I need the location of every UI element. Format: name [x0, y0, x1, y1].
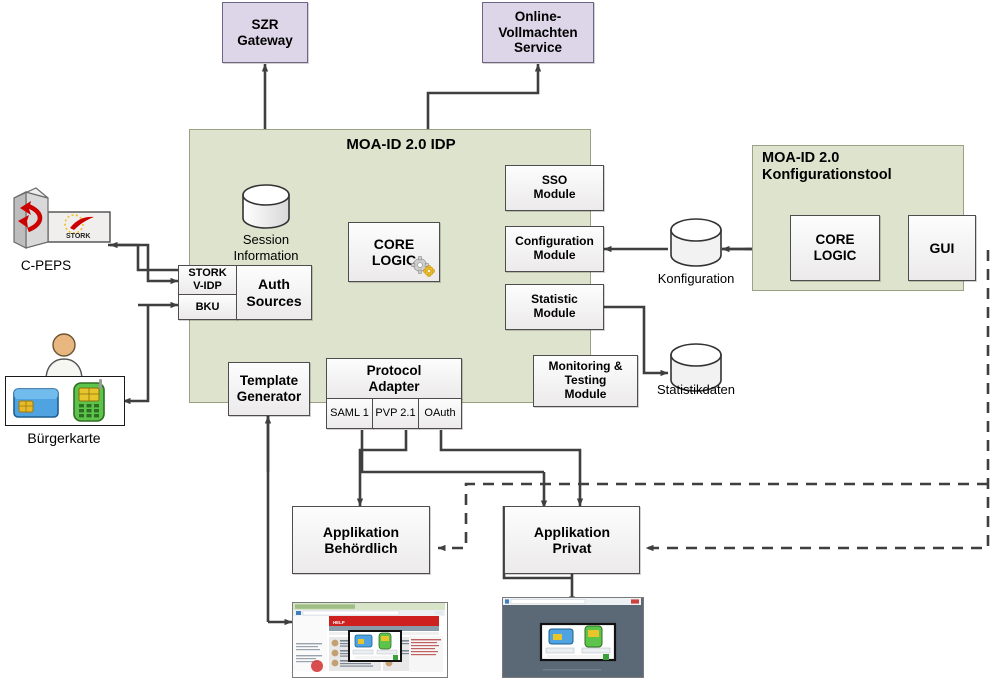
browser-screenshot-left[interactable]: HELP [292, 602, 448, 678]
vollmachten-line1: Online- [515, 9, 562, 24]
svg-text:STORK: STORK [66, 233, 90, 240]
konfigtool-core-logic-line1: CORE [815, 232, 854, 247]
template-generator-line1: Template [240, 373, 298, 388]
behoerdlich-line2: Behördlich [324, 540, 397, 556]
monitoring-testing-module-box[interactable]: Monitoring & Testing Module [533, 355, 638, 407]
stork-vidp-box[interactable]: STORK V-IDP [178, 265, 237, 295]
konfigtool-gui-box[interactable]: GUI [908, 215, 976, 281]
configuration-module-line1: Configuration [515, 234, 594, 248]
applikation-behoerdlich-box[interactable]: Applikation Behördlich [292, 506, 430, 574]
configuration-module-line2: Module [534, 248, 576, 262]
buergerkarte-label: Bürgerkarte [0, 430, 128, 446]
protocol-adapter-box[interactable]: Protocol Adapter [326, 358, 462, 399]
stork-line2: V-IDP [193, 280, 222, 292]
session-information-store [240, 184, 292, 230]
stork-line1: STORK [188, 267, 226, 279]
konfigtool-core-logic-line2: LOGIC [814, 248, 857, 263]
idp-core-logic-line1: CORE [374, 236, 414, 252]
protocol-oauth-box[interactable]: OAuth [418, 398, 462, 429]
auth-sources-line1: Auth [258, 276, 290, 292]
protocol-adapter-line2: Adapter [368, 379, 419, 394]
statistic-module-box[interactable]: Statistic Module [505, 284, 604, 330]
idp-core-logic-box[interactable]: CORE LOGIC [348, 222, 440, 282]
gear-icon [410, 255, 436, 280]
idp-panel-title: MOA-ID 2.0 IDP [286, 136, 516, 154]
statistikdaten-store-label: Statistikdaten [641, 382, 751, 397]
sso-module-box[interactable]: SSO Module [505, 165, 604, 211]
vollmachten-line3: Service [514, 40, 562, 55]
protocol-pvp21-box[interactable]: PVP 2.1 [372, 398, 419, 429]
session-information-label: Session Information [212, 232, 320, 263]
monitoring-line2: Testing [565, 373, 607, 387]
diagram-canvas: SZR Gateway Online- Vollmachten Service … [0, 0, 1000, 678]
c-peps-label: C-PEPS [0, 258, 92, 273]
statistic-module-line2: Module [534, 306, 576, 320]
behoerdlich-line1: Applikation [323, 524, 399, 540]
szr-gateway-line2: Gateway [237, 33, 293, 48]
konfigtool-core-logic-box[interactable]: CORE LOGIC [790, 215, 880, 281]
protocol-saml1-box[interactable]: SAML 1 [326, 398, 373, 429]
buergerkarte-box[interactable] [5, 376, 125, 426]
szr-gateway-line1: SZR [252, 17, 279, 32]
configuration-module-box[interactable]: Configuration Module [505, 226, 604, 272]
applikation-privat-box[interactable]: Applikation Privat [504, 506, 640, 574]
monitoring-line1: Monitoring & [549, 359, 623, 373]
sso-module-line2: Module [534, 187, 576, 201]
template-generator-box[interactable]: Template Generator [228, 362, 310, 416]
auth-sources-line2: Sources [246, 293, 301, 309]
konfigurationstool-title: MOA-ID 2.0 Konfigurationstool [762, 150, 957, 184]
privat-line2: Privat [553, 540, 592, 556]
smartcard-icon [14, 389, 58, 417]
protocol-adapter-line1: Protocol [367, 363, 422, 378]
person-icon [42, 332, 86, 380]
privat-line1: Applikation [534, 524, 610, 540]
browser-screenshot-right[interactable] [502, 597, 644, 678]
auth-sources-box[interactable]: Auth Sources [236, 265, 312, 320]
template-generator-line2: Generator [237, 389, 302, 404]
vollmachten-line2: Vollmachten [498, 25, 577, 40]
svg-text:HELP: HELP [333, 620, 345, 625]
online-vollmachten-service-box[interactable]: Online- Vollmachten Service [482, 2, 594, 63]
szr-gateway-box[interactable]: SZR Gateway [222, 2, 308, 63]
mobile-phone-icon [74, 379, 104, 421]
statistic-module-line1: Statistic [531, 292, 578, 306]
konfiguration-store [668, 218, 724, 268]
c-peps-graphic: STORK [4, 186, 112, 256]
bku-box[interactable]: BKU [178, 294, 237, 320]
sso-module-line1: SSO [542, 173, 567, 187]
monitoring-line3: Module [564, 387, 606, 401]
konfiguration-store-label: Konfiguration [643, 271, 749, 286]
